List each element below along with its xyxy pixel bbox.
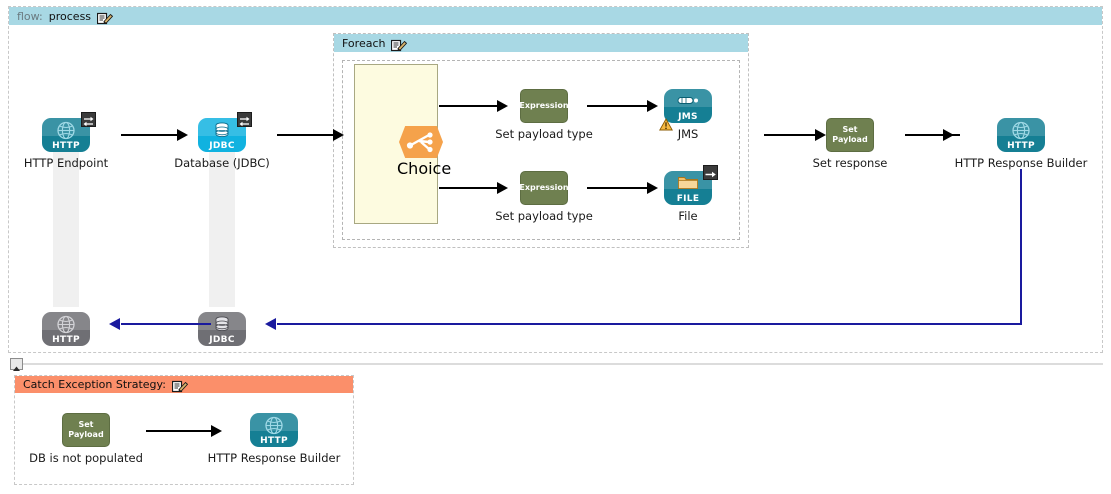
choice-container[interactable]: Choice — [354, 64, 438, 224]
connector-db-not-populated-to-http-builder — [146, 430, 214, 432]
http-response-builder-icon[interactable]: HTTP — [997, 118, 1045, 152]
arrow-head-icon — [265, 318, 276, 330]
return-path-horizontal-left — [121, 323, 211, 325]
database-jdbc-label: Database (JDBC) — [132, 156, 312, 170]
foreach-header-bar[interactable]: Foreach — [334, 34, 748, 52]
set-payload-icon[interactable]: Set Payload — [62, 413, 110, 447]
http-return-tag: HTTP — [42, 335, 90, 345]
choice-label: Choice — [397, 159, 451, 178]
connector-expression-to-jms — [587, 105, 649, 107]
arrow-head-icon — [815, 129, 826, 141]
return-path-horizontal-right — [277, 323, 1022, 325]
http-endpoint-icon[interactable]: HTTP — [42, 118, 90, 152]
arrow-head-icon — [647, 182, 658, 194]
inbound-outbound-badge-icon — [81, 112, 96, 127]
set-payload-line2: Payload — [68, 430, 103, 439]
flow-header-bar[interactable]: flow: process — [9, 7, 1102, 25]
catch-exception-header-bar[interactable]: Catch Exception Strategy: — [15, 376, 353, 393]
foreach-title-label: Foreach — [342, 37, 385, 50]
node-choice[interactable]: Choice — [397, 125, 451, 178]
db-not-populated-label: DB is not populated — [0, 451, 176, 465]
http-response-builder-tag: HTTP — [997, 141, 1045, 151]
scope-catch-exception-strategy[interactable]: Catch Exception Strategy: Set Paylo — [14, 375, 354, 485]
jms-label: JMS — [598, 127, 778, 141]
arrow-head-icon — [211, 425, 222, 437]
set-response-label: Set response — [760, 156, 940, 170]
set-payload-icon-text: Set Payload — [68, 420, 103, 440]
expression-icon-text: Expression — [519, 183, 568, 193]
outbound-arrow-badge-icon — [703, 165, 718, 180]
http-return-icon[interactable]: HTTP — [42, 312, 90, 346]
flow-editor-canvas: flow: process Foreach — [0, 0, 1111, 494]
section-divider — [23, 363, 1103, 365]
arrow-head-icon — [497, 182, 508, 194]
catch-exception-title-label: Catch Exception Strategy: — [23, 378, 166, 391]
arrow-head-icon — [943, 129, 954, 141]
file-endpoint-icon[interactable]: FILE — [664, 171, 712, 205]
set-payload-line1: Set — [78, 420, 93, 429]
flow-process-container[interactable]: flow: process Foreach — [8, 6, 1103, 353]
collapse-toggle-button[interactable] — [10, 358, 23, 370]
file-label: File — [598, 209, 778, 223]
expression-icon[interactable]: Expression — [520, 89, 568, 123]
edit-pencil-icon[interactable] — [97, 10, 113, 23]
jdbc-return-icon[interactable]: JDBC — [198, 312, 246, 346]
folder-icon — [677, 174, 699, 194]
file-tag: FILE — [664, 194, 712, 204]
catch-http-response-builder-label: HTTP Response Builder — [184, 451, 364, 465]
queue-icon — [677, 92, 699, 111]
set-payload-icon[interactable]: Set Payload — [826, 118, 874, 152]
catch-http-response-builder-tag: HTTP — [250, 436, 298, 446]
arrow-head-icon — [109, 318, 120, 330]
connector-choice-to-expression-top — [439, 105, 499, 107]
arrow-head-icon — [497, 100, 508, 112]
connector-http-to-database — [121, 134, 179, 136]
expression-icon-text: Expression — [519, 101, 568, 111]
connector-choice-to-expression-bottom — [439, 187, 499, 189]
set-payload-line2: Payload — [832, 135, 867, 144]
jms-endpoint-icon[interactable]: JMS — [664, 89, 712, 123]
arrow-head-icon — [647, 100, 658, 112]
expression-icon[interactable]: Expression — [520, 171, 568, 205]
http-response-builder-icon[interactable]: HTTP — [250, 413, 298, 447]
http-response-builder-label: HTTP Response Builder — [931, 156, 1111, 170]
jdbc-database-icon[interactable]: JDBC — [198, 118, 246, 152]
set-payload-icon-text: Set Payload — [832, 125, 867, 145]
set-payload-line1: Set — [842, 125, 857, 134]
http-endpoint-tag: HTTP — [42, 141, 90, 151]
arrow-head-icon — [177, 129, 188, 141]
jdbc-return-tag: JDBC — [198, 335, 246, 345]
connector-database-to-foreach — [277, 134, 335, 136]
flow-name-label: process — [49, 10, 91, 23]
edit-pencil-icon[interactable] — [172, 378, 188, 391]
choice-router-icon[interactable] — [397, 125, 445, 159]
return-path-vertical — [1020, 169, 1022, 325]
jdbc-tag: JDBC — [198, 141, 246, 151]
flow-keyword-label: flow: — [17, 10, 43, 23]
arrow-head-icon — [333, 129, 344, 141]
connector-foreach-to-set-response — [764, 134, 819, 136]
inbound-outbound-badge-icon — [237, 112, 252, 127]
connector-expression-to-file — [587, 187, 649, 189]
edit-pencil-icon[interactable] — [391, 37, 407, 50]
